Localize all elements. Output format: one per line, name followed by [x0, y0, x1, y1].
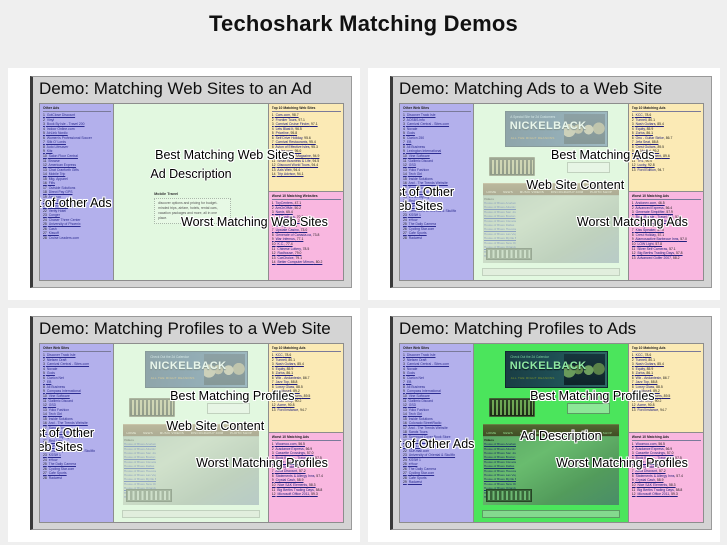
- banner-subtitle: ALL THE RIGHT REASONS: [151, 376, 195, 380]
- best-list-header: Top 10 Matching Ads: [272, 346, 341, 352]
- demo-grid: Demo: Matching Web Sites to an AdOther A…: [0, 62, 727, 545]
- worst-matches-panel[interactable]: Worst 10 Matching Ads1 Woomoo.com, 56.52…: [629, 433, 703, 522]
- site-footer-banner[interactable]: [486, 248, 532, 260]
- site-logo[interactable]: [489, 398, 535, 417]
- callout-center: Ad Description: [150, 167, 231, 181]
- worst-list-item[interactable]: 13 Advanced Golfer 2007, 58.2: [632, 256, 701, 261]
- callout-worst: Worst Matching Profiles: [196, 456, 328, 470]
- ad-description-label: Mobile Travel: [154, 192, 231, 196]
- worst-matches-panel[interactable]: Worst 10 Matching Ads1 Woomoo.com, 56.52…: [269, 433, 343, 522]
- demo-stage: Other Web Sites1 Discover Track Isle2 Ni…: [39, 343, 344, 523]
- demo-stage: Other Ads1 GotClose Discount2 Vinyl3 Boo…: [39, 103, 344, 281]
- left-list-header: Other Web Sites: [403, 106, 471, 112]
- worst-matches-panel[interactable]: Worst 10 Matching Ads1 Andonex.com, 46.5…: [629, 192, 703, 280]
- site-link[interactable]: House of Blues Anaheim: [484, 442, 516, 446]
- banner-kicker: Check Out the 2d Calendar: [150, 355, 189, 359]
- banner-kicker: Check Out the 2d Calendar: [510, 355, 549, 359]
- nickelback-banner-ad[interactable]: Check Out the 2d CalendarNICKELBACKALL T…: [145, 351, 247, 388]
- banner-title: NICKELBACK: [510, 360, 587, 372]
- demo-card-matching-web-sites-to-an-ad[interactable]: Demo: Matching Web Sites to an AdOther A…: [8, 68, 360, 300]
- best-list-header: Top 10 Matching Ads: [632, 106, 701, 112]
- demo-stage: Other Web Sites1 Discover Track Isle2 AO…: [399, 103, 704, 281]
- page-title: Techoshark Matching Demos: [0, 0, 727, 37]
- callout-left: List of Other Ads: [399, 437, 474, 451]
- left-list-column[interactable]: Other Ads1 GotClose Discount2 Vinyl3 Boo…: [40, 104, 114, 280]
- center-content-column[interactable]: Check Out the 2d CalendarNICKELBACKALL T…: [474, 344, 629, 522]
- site-footer-banner[interactable]: [126, 489, 172, 501]
- nickelback-banner-ad[interactable]: Check Out the 2d CalendarNICKELBACKALL T…: [505, 351, 607, 388]
- left-list-header: Other Web Sites: [403, 346, 471, 352]
- best-list-item[interactable]: 14 Trip Advisor, 94.1: [272, 172, 341, 177]
- demo-frame: Demo: Matching Web Sites to an AdOther A…: [30, 76, 352, 288]
- site-search-input[interactable]: [567, 403, 610, 414]
- banner-subtitle: ALL THE RIGHT REASONS: [511, 376, 555, 380]
- demo-stage: Other Web Sites1 Discover Track Isle2 Ni…: [399, 343, 704, 523]
- demo-frame: Demo: Matching Ads to a Web SiteOther We…: [390, 76, 712, 288]
- demo-title: Demo: Matching Profiles to a Web Site: [39, 319, 347, 343]
- left-list-item[interactable]: 28 Radwest: [403, 236, 471, 241]
- banner-title: NICKELBACK: [150, 360, 227, 372]
- demo-title: Demo: Matching Web Sites to an Ad: [39, 79, 347, 103]
- callout-best: Best Matching Web Sites: [155, 148, 294, 162]
- right-results-column: Top 10 Matching Ads1 KCC, 78.62 Tunnell,…: [269, 344, 343, 522]
- banner-subtitle: ALL THE RIGHT REASONS: [511, 136, 555, 140]
- demo-card-matching-profiles-to-a-web-site[interactable]: Demo: Matching Profiles to a Web SiteOth…: [8, 308, 360, 542]
- left-list-item[interactable]: 28 Radwest: [43, 476, 111, 481]
- demo-card-matching-profiles-to-ads[interactable]: Demo: Matching Profiles to AdsOther Web …: [368, 308, 720, 542]
- site-link[interactable]: House of Blues Dallas: [484, 464, 516, 468]
- callout-worst: Worst Matching Web Sites: [181, 215, 328, 229]
- callout-best: Best Matching Profiles: [170, 389, 294, 403]
- callout-left: List of Other Web Sites: [39, 426, 94, 454]
- banner-title: NICKELBACK: [510, 120, 587, 132]
- site-footer-banner[interactable]: [486, 489, 532, 501]
- right-results-column: Top 10 Matching Web Sites1 Cars.com, 98.…: [269, 104, 343, 280]
- callout-center: Web Site Content: [526, 178, 624, 192]
- worst-list-header: Worst 10 Matching Ads: [632, 435, 701, 441]
- best-list-item[interactable]: 13 Ford Instance, 94.7: [272, 408, 341, 413]
- horizontal-scrollbar[interactable]: [482, 268, 621, 276]
- worst-list-item[interactable]: 14 Better Computer Mirrors, 80.2: [272, 260, 341, 265]
- demo-card-matching-ads-to-a-web-site[interactable]: Demo: Matching Ads to a Web SiteOther We…: [368, 68, 720, 300]
- site-logo[interactable]: [129, 398, 175, 417]
- site-link[interactable]: House of Blues Boston: [484, 214, 516, 218]
- worst-list-header: Worst 10 Matching Ads: [632, 194, 701, 200]
- callout-left: List of other Ads: [39, 196, 112, 210]
- center-content-column[interactable]: Check Out the 2d CalendarNICKELBACKALL T…: [114, 344, 269, 522]
- best-list-header: Top 10 Matching Ads: [632, 346, 701, 352]
- demo-frame: Demo: Matching Profiles to AdsOther Web …: [390, 316, 712, 530]
- worst-list-item[interactable]: 12 Microsoft Office 2011, 59.3: [632, 492, 701, 497]
- site-search-input[interactable]: [567, 162, 610, 173]
- site-search-input[interactable]: [207, 403, 250, 414]
- worst-list-item[interactable]: 12 Microsoft Office 2011, 59.3: [272, 492, 341, 497]
- site-link[interactable]: House of Blues Anaheim: [124, 442, 156, 446]
- site-link[interactable]: House of Blues Dallas: [124, 464, 156, 468]
- left-list-item[interactable]: 29 Radwest: [403, 480, 471, 485]
- demo-frame: Demo: Matching Profiles to a Web SiteOth…: [30, 316, 352, 530]
- worst-list-header: Worst 10 Matching Websites: [272, 194, 341, 200]
- site-logo[interactable]: [489, 157, 535, 176]
- horizontal-scrollbar[interactable]: [122, 510, 261, 518]
- callout-best: Best Matching Ads: [551, 148, 655, 162]
- left-list-item[interactable]: 28 Cruise Leaders.com: [43, 236, 111, 241]
- callout-best: Best Matching Profiles: [530, 389, 654, 403]
- demo-title: Demo: Matching Profiles to Ads: [399, 319, 707, 343]
- left-list-header: Other Web Sites: [43, 346, 111, 352]
- callout-center: Ad Description: [520, 429, 601, 443]
- worst-matches-panel[interactable]: Worst 10 Matching Websites1 ToyCenters, …: [269, 192, 343, 280]
- banner-kicker: A Special Site for 2d Customers: [510, 115, 555, 119]
- demo-title: Demo: Matching Ads to a Web Site: [399, 79, 707, 103]
- best-list-item[interactable]: 13 Ford Instance, 94.7: [632, 408, 701, 413]
- left-list-column[interactable]: Other Web Sites1 Discover Track Isle2 Ni…: [400, 344, 474, 522]
- best-list-item[interactable]: 13 Ford Edition, 94.7: [632, 168, 701, 173]
- right-results-column: Top 10 Matching Ads1 KCC, 78.62 Tunnell,…: [629, 104, 703, 280]
- right-results-column: Top 10 Matching Ads1 KCC, 78.62 Tunnell,…: [629, 344, 703, 522]
- callout-worst: Worst Matching Ads: [577, 215, 688, 229]
- callout-center: Web Site Content: [166, 419, 264, 433]
- callout-worst: Worst Matching Profiles: [556, 456, 688, 470]
- center-content-column[interactable]: Mobile Traveldiscover options and pricin…: [114, 104, 269, 280]
- left-list-header: Other Ads: [43, 106, 111, 112]
- best-list-header: Top 10 Matching Web Sites: [272, 106, 341, 112]
- nickelback-banner-ad[interactable]: A Special Site for 2d CustomersNICKELBAC…: [505, 111, 607, 147]
- callout-left: List of Other Web Sites: [399, 185, 454, 213]
- center-content-column[interactable]: A Special Site for 2d CustomersNICKELBAC…: [474, 104, 629, 280]
- horizontal-scrollbar[interactable]: [482, 510, 621, 518]
- worst-list-header: Worst 10 Matching Ads: [272, 435, 341, 441]
